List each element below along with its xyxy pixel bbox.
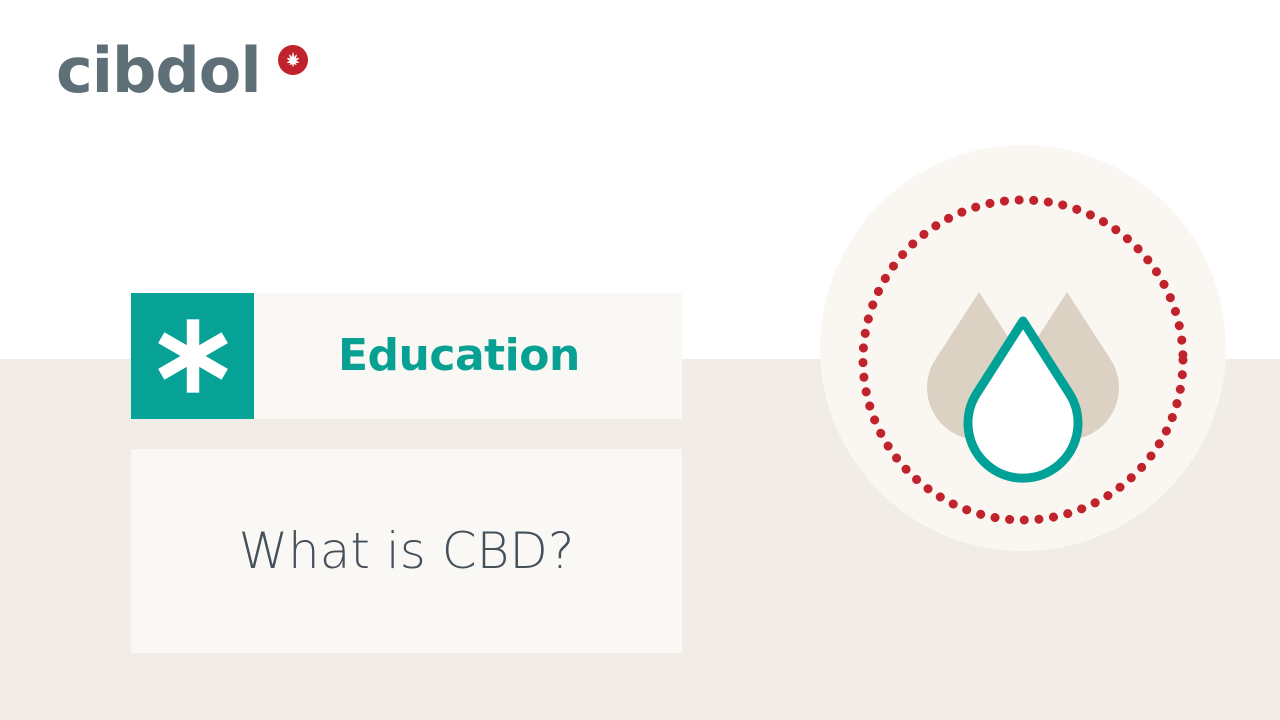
category-icon-tile xyxy=(131,293,254,419)
slide-canvas: cibdol Education What is CBD? xyxy=(0,0,1280,720)
cannabis-leaf-icon xyxy=(278,45,308,75)
title-panel: What is CBD? xyxy=(131,449,682,653)
category-strip: Education xyxy=(131,293,682,419)
hero-illustration xyxy=(812,145,1234,567)
category-label: Education xyxy=(254,334,580,378)
brand-logo-text: cibdol xyxy=(56,36,261,106)
brand-logo[interactable]: cibdol xyxy=(56,36,316,108)
category-label-panel: Education xyxy=(254,293,682,419)
page-title: What is CBD? xyxy=(239,526,575,576)
asterisk-icon xyxy=(154,316,232,396)
